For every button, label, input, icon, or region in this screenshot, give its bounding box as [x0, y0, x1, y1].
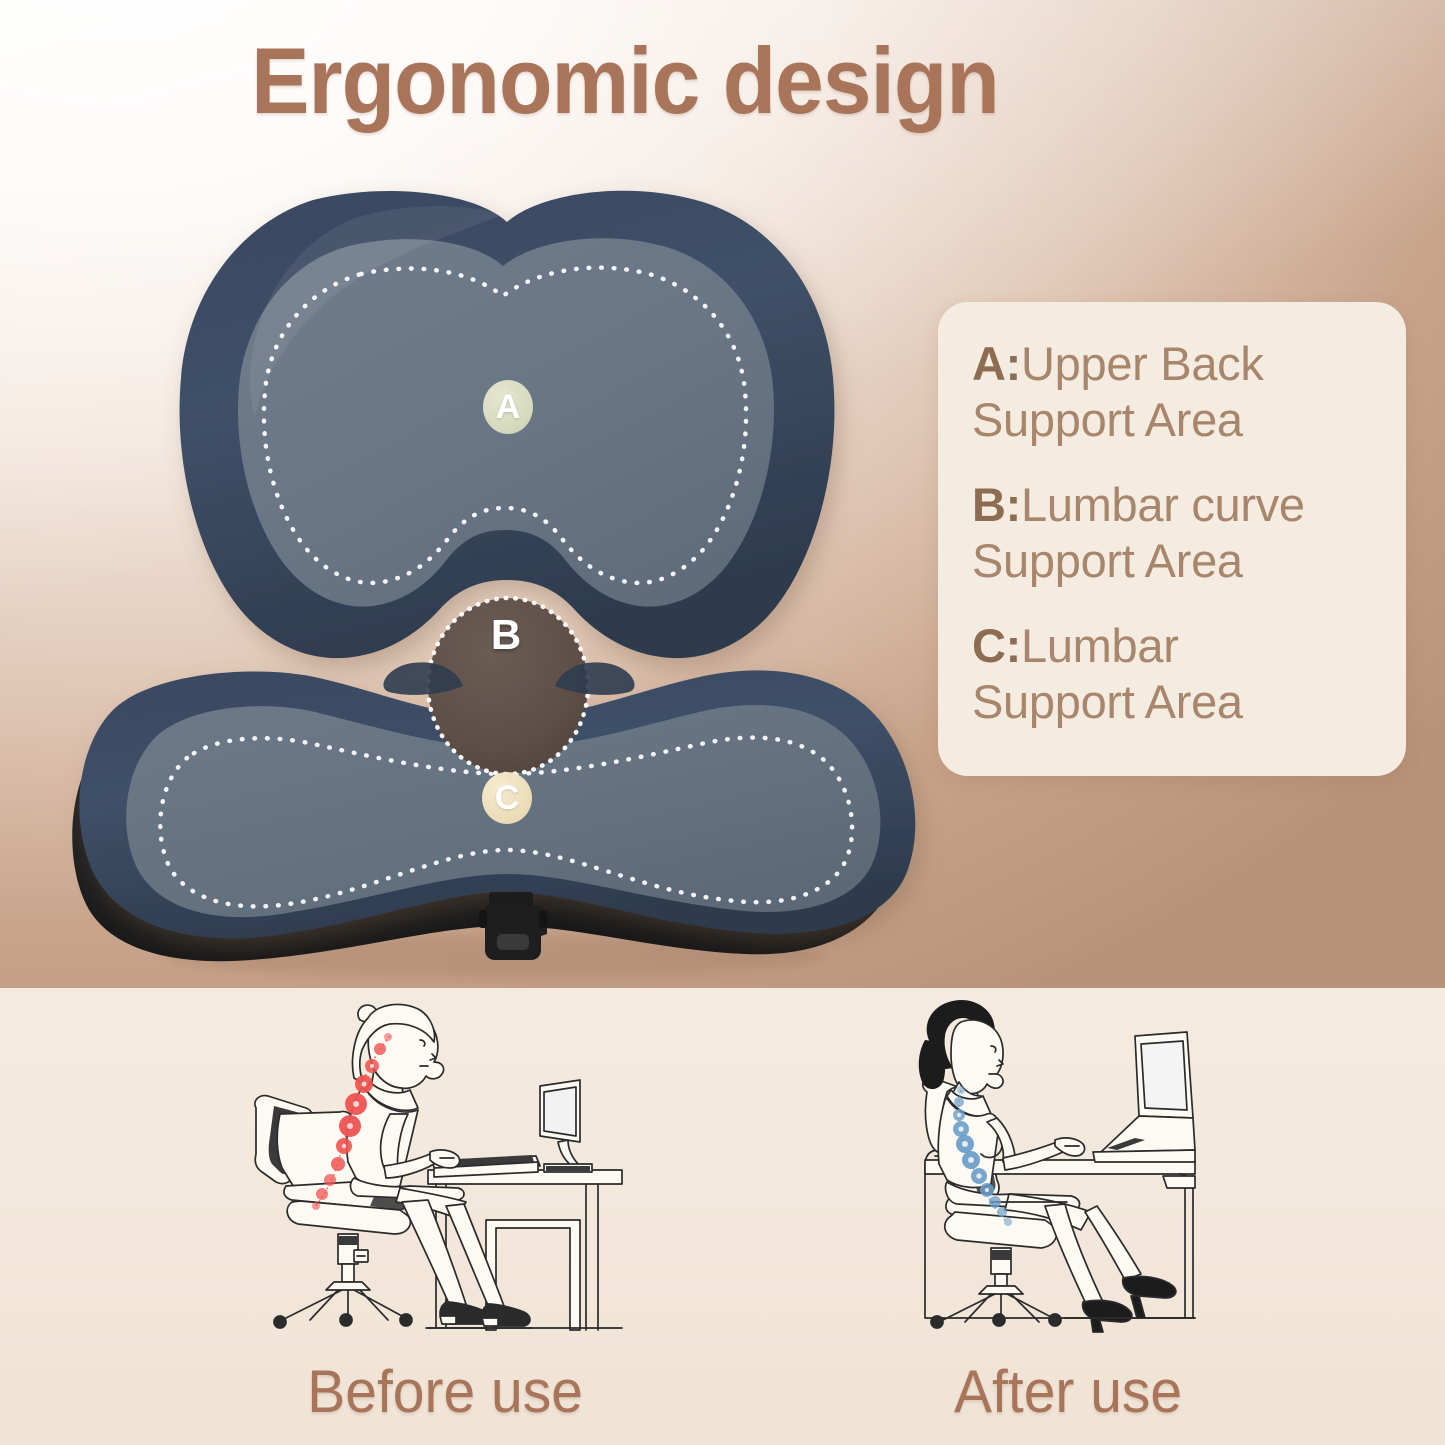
after-use-illustration	[895, 996, 1295, 1346]
legend-line-b-2: Support Area	[972, 533, 1380, 589]
legend-key-a: A:	[972, 337, 1021, 390]
legend-item-c: C:Lumbar Support Area	[972, 618, 1380, 731]
badge-c-letter: C	[495, 779, 520, 818]
legend-item-b: B:Lumbar curve Support Area	[972, 477, 1380, 590]
legend-line-a-1: A:Upper Back	[972, 336, 1380, 392]
legend-item-a: A:Upper Back Support Area	[972, 336, 1380, 449]
badge-a-letter: A	[496, 388, 521, 427]
legend-key-b: B:	[972, 478, 1021, 531]
legend-text-c-1: Lumbar	[1021, 619, 1179, 672]
legend-panel: A:Upper Back Support Area B:Lumbar curve…	[938, 302, 1406, 776]
product-feature-section: Ergonomic design	[0, 0, 1445, 988]
legend-line-c-1: C:Lumbar	[972, 618, 1380, 674]
legend-text-b-1: Lumbar curve	[1021, 478, 1305, 531]
infographic-page: Ergonomic design	[0, 0, 1445, 1445]
cushion-illustration	[55, 178, 915, 978]
before-use-illustration	[250, 996, 650, 1346]
before-after-comparison-section	[0, 988, 1445, 1445]
page-title: Ergonomic design	[44, 34, 1207, 128]
badge-b-letter: B	[491, 611, 521, 659]
badge-a: A	[483, 380, 533, 434]
legend-line-c-2: Support Area	[972, 674, 1380, 730]
after-use-label: After use	[954, 1357, 1182, 1426]
badge-c: C	[482, 772, 532, 824]
before-use-label: Before use	[307, 1357, 583, 1426]
legend-line-b-1: B:Lumbar curve	[972, 477, 1380, 533]
legend-line-a-2: Support Area	[972, 392, 1380, 448]
legend-key-c: C:	[972, 619, 1021, 672]
legend-text-a-1: Upper Back	[1021, 337, 1264, 390]
badge-b: B	[478, 605, 534, 665]
